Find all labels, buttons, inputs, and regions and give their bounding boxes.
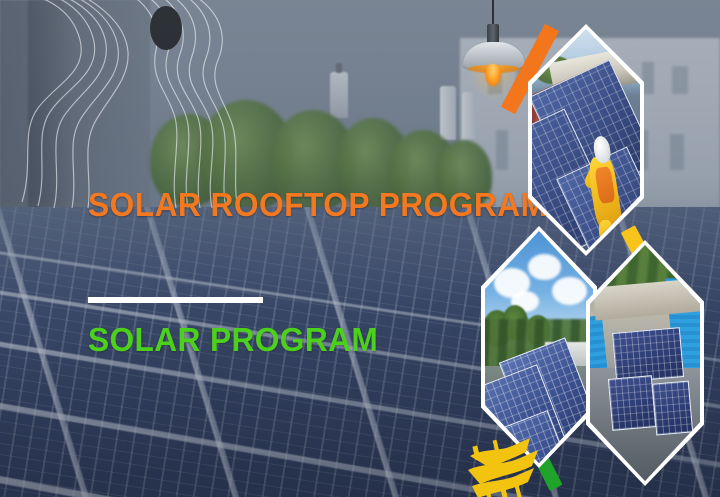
page-subtitle: SOLAR PROGRAM [88,323,378,356]
title-divider [88,297,263,303]
hexagon-photo-cluster [470,10,720,497]
yellow-brush-splash-icon [468,426,576,497]
topographic-contour-lines-icon [0,0,294,208]
solar-program-banner: SOLAR ROOFTOP PROGRAM SOLAR PROGRAM [0,0,720,497]
